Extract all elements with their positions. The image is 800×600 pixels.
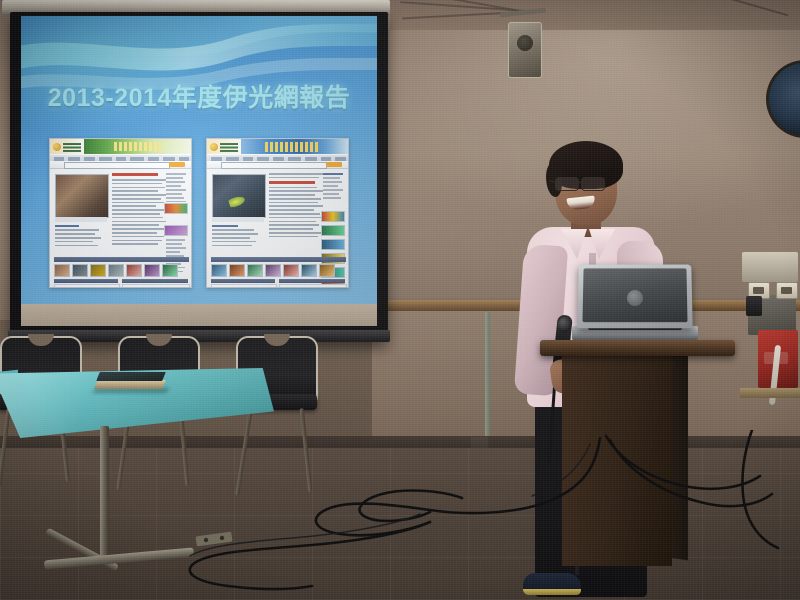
glasses-lens-left — [555, 177, 579, 191]
site-footer-body-a — [54, 284, 120, 288]
site-hero-caption — [55, 217, 107, 222]
site-ad-banner-1 — [321, 211, 345, 222]
screen-frame: 2013-2014年度伊光網報告 — [10, 12, 388, 342]
site-ad-thumb — [164, 225, 188, 236]
site-link-list — [212, 225, 262, 248]
site-article-column — [269, 173, 325, 240]
site-section-header — [54, 257, 189, 262]
glasses-icon — [555, 177, 615, 189]
site-link-list — [55, 225, 105, 248]
site-hero-image — [55, 174, 109, 218]
site-section-header — [211, 257, 346, 262]
site-ad-banner-2 — [321, 225, 345, 236]
wall-speaker — [508, 22, 542, 78]
slide-screenshots — [49, 138, 349, 286]
site-headline — [112, 173, 158, 176]
website-screenshot-left — [49, 138, 192, 288]
site-header — [50, 139, 191, 154]
site-sidebar — [323, 173, 345, 201]
site-hero-image — [212, 174, 266, 218]
site-search-bar — [50, 161, 191, 169]
glasses-bridge — [577, 182, 583, 183]
socket-slot — [753, 287, 764, 294]
book-cover — [96, 372, 166, 381]
presentation-photo: 2013-2014年度伊光網報告 — [0, 0, 800, 600]
laptop-lid-panel — [582, 268, 687, 322]
screen-blank-area — [21, 304, 377, 326]
screen-canvas: 2013-2014年度伊光網報告 — [21, 16, 377, 326]
projected-slide: 2013-2014年度伊光網報告 — [21, 16, 377, 304]
site-footer-header-b — [279, 279, 345, 283]
glasses-lens-right — [581, 177, 605, 191]
site-hero-caption — [212, 217, 264, 222]
air-conditioner-unit — [742, 252, 798, 282]
website-screenshot-right — [206, 138, 349, 288]
wall-cable-conduit — [485, 312, 490, 440]
site-sidebar — [166, 173, 188, 205]
site-banner-ad — [241, 139, 348, 154]
equipment-shelf — [740, 388, 800, 398]
projection-screen: 2013-2014年度伊光網報告 — [2, 0, 392, 352]
laptop-on-podium — [572, 264, 698, 348]
site-footer-body-b — [122, 284, 190, 288]
site-header — [207, 139, 348, 154]
site-body — [207, 169, 348, 287]
book-on-table — [96, 372, 166, 392]
laptop-lid — [577, 265, 692, 329]
socket-slot — [781, 287, 792, 294]
site-article-column — [112, 173, 168, 247]
floor-cables — [0, 430, 800, 600]
wall-socket-lower — [776, 282, 798, 299]
laptop-brand-logo-icon — [627, 290, 643, 306]
site-footer-header-a — [54, 279, 118, 283]
slide-title: 2013-2014年度伊光網報告 — [21, 78, 377, 114]
site-footer-header-b — [122, 279, 188, 283]
site-thumbnail-row — [211, 264, 335, 277]
site-footer-header-a — [211, 279, 275, 283]
site-headline — [269, 181, 315, 184]
power-plug — [746, 296, 762, 316]
site-thumbnail-row — [54, 264, 178, 277]
site-banner-ad — [84, 139, 191, 154]
site-body — [50, 169, 191, 287]
slide-glow — [21, 16, 261, 136]
book-pages — [94, 380, 166, 389]
site-footer-body-a — [211, 284, 277, 288]
site-search-bar — [207, 161, 348, 169]
floor-cable-plate — [195, 532, 232, 547]
site-logo-icon — [207, 139, 241, 154]
site-footer-body-b — [279, 284, 347, 288]
site-ad-banner — [164, 203, 188, 214]
site-ad-banner-3 — [321, 239, 345, 250]
site-logo-icon — [50, 139, 84, 154]
